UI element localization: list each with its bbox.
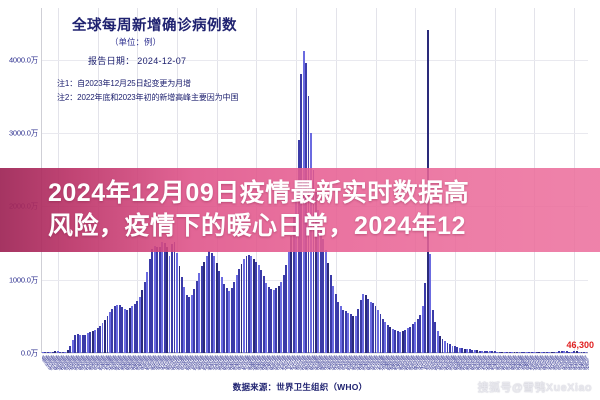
final-value-annotation: 46,300	[566, 340, 594, 350]
chart-report-date: 报告日期： 2024-12-07	[88, 54, 186, 67]
watermark: 搜狐号@雪鸮XueXiao	[478, 379, 592, 395]
bar	[586, 352, 588, 353]
y-axis-tick-label: 3000.0万	[9, 128, 38, 139]
x-axis-labels: 2020-01-052020-01-122020-01-192020-01-26…	[42, 354, 589, 382]
chart-unit-label: （单位：例）	[110, 36, 161, 48]
banner-line-1: 2024年12月09日疫情最新实时数据高	[48, 177, 594, 210]
y-axis-tick-label: 1000.0万	[9, 274, 38, 285]
y-axis-tick-label: 4000.0万	[9, 54, 38, 65]
screenshot-root: 0.0万1000.0万2000.0万3000.0万4000.0万 全球每周新增确…	[0, 0, 600, 400]
y-axis-tick-label: 0.0万	[21, 348, 38, 359]
chart-note-1: 注1：自2023年12月25日起变更为月增	[57, 78, 191, 89]
chart-title: 全球每周新增确诊病例数	[72, 14, 237, 35]
chart-note-2: 注2：2022年底和2023年初的新增高峰主要因为中国	[57, 92, 238, 103]
article-title-banner: 2024年12月09日疫情最新实时数据高 风险，疫情下的暖心日常，2024年12	[0, 168, 600, 252]
banner-line-2: 风险，疫情下的暖心日常，2024年12	[48, 210, 594, 243]
